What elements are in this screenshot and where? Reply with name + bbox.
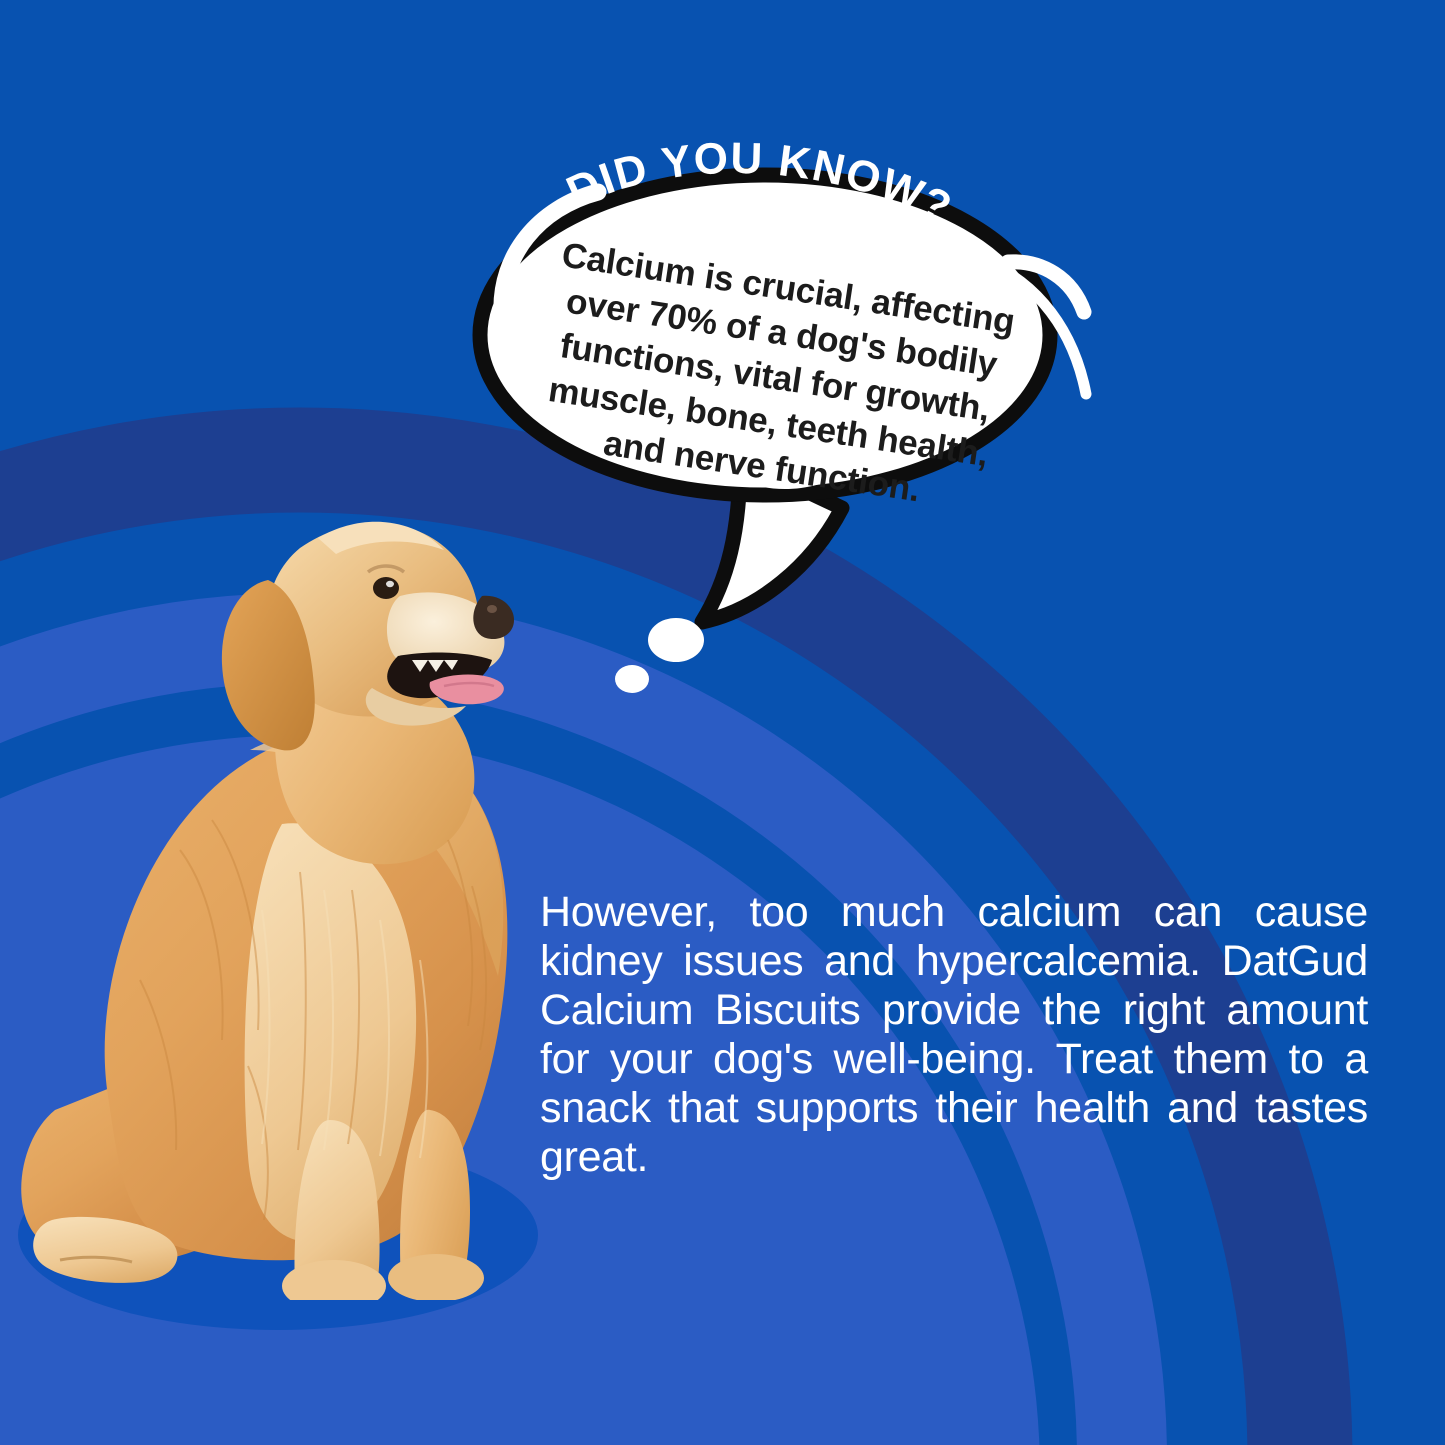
did-you-know-heading: DID YOU KNOW?: [480, 130, 1100, 330]
poster-canvas: Calcium is crucial, affecting over 70% o…: [0, 0, 1445, 1445]
dog-paw-left: [388, 1254, 484, 1300]
thought-dot-large: [648, 618, 704, 662]
dog-eye: [373, 577, 399, 599]
dog-tongue: [430, 675, 504, 705]
thought-dot-small: [615, 665, 649, 693]
dog-eye-glint: [386, 581, 394, 587]
did-you-know-label: DID YOU KNOW?: [559, 134, 960, 234]
thought-dots: [600, 600, 740, 710]
body-paragraph: However, too much calcium can cause kidn…: [540, 888, 1368, 1231]
